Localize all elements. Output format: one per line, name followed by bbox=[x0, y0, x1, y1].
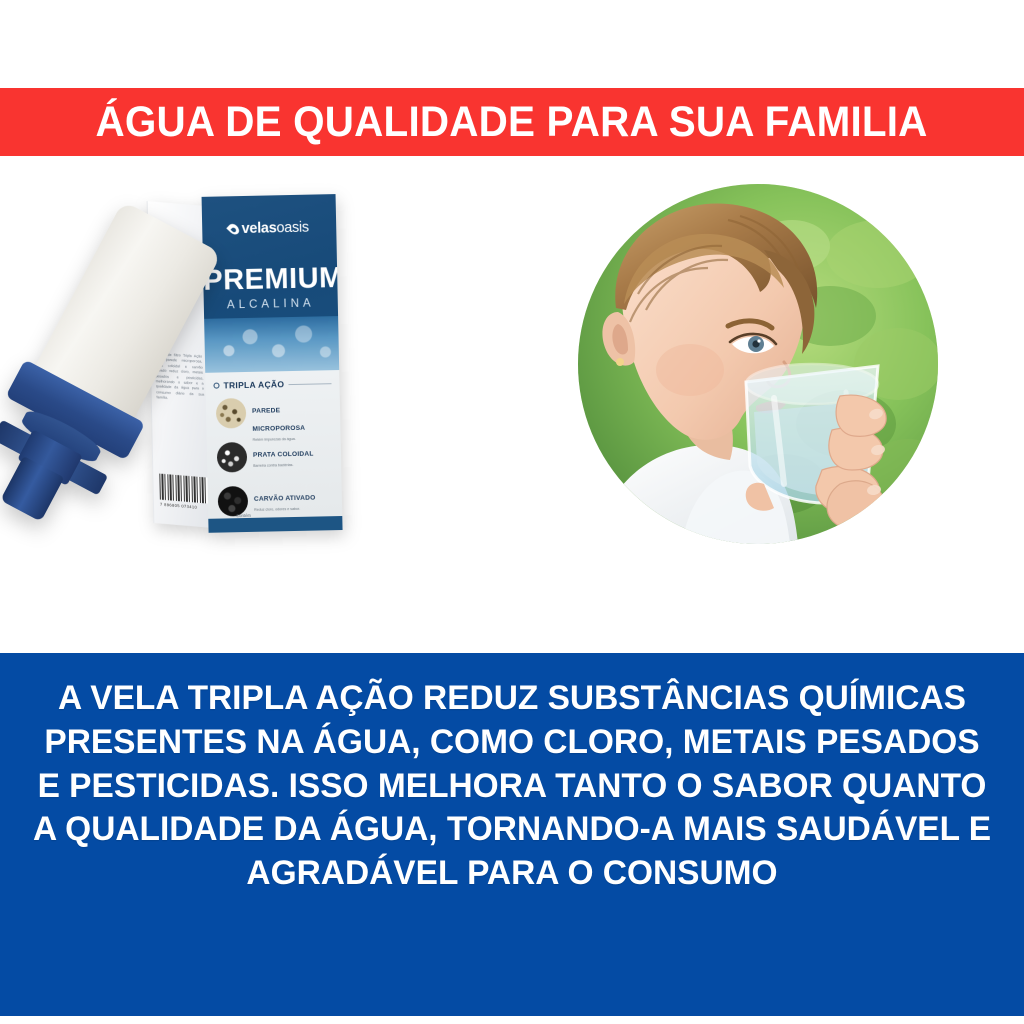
divider-rule bbox=[288, 383, 331, 385]
colloidal-silver-icon bbox=[217, 442, 248, 473]
activated-carbon-icon bbox=[218, 486, 249, 517]
triple-action-label: TRIPLA AÇÃO bbox=[223, 379, 284, 390]
brand-name-oasis: oasis bbox=[276, 220, 309, 237]
description-text: A VELA TRIPLA AÇÃO REDUZ SUBSTÂNCIAS QUÍ… bbox=[32, 653, 992, 896]
photo-illustration bbox=[578, 184, 938, 544]
feature-description: Reduz cloro, odores e sabor. bbox=[254, 507, 316, 513]
water-drop-icon bbox=[227, 222, 242, 237]
product-image-group: Mais qualidade e saúde para sua família.… bbox=[10, 176, 410, 576]
feature-title: CARVÃO ATIVADO bbox=[254, 495, 316, 503]
brand-logo: velasoasis bbox=[202, 218, 336, 239]
porous-wall-icon bbox=[216, 398, 247, 429]
carton-front-panel: velasoasis PREMIUM ALCALINA TRIPLA AÇÃO … bbox=[202, 194, 343, 533]
headline-banner: ÁGUA DE QUALIDADE PARA SUA FAMILIA bbox=[0, 88, 1024, 156]
carton-lower-panel: TRIPLA AÇÃO PAREDE MICROPOROSA Retém imp… bbox=[205, 370, 342, 533]
hero-stage: Mais qualidade e saúde para sua família.… bbox=[0, 156, 1024, 653]
feature-title: PRATA COLOIDAL bbox=[253, 451, 314, 459]
feature-description: Barreira contra bactérias. bbox=[253, 463, 314, 469]
feature-item: PRATA COLOIDAL Barreira contra bactérias… bbox=[217, 440, 336, 472]
child-drinking-water-photo bbox=[578, 184, 938, 544]
bullet-dot-icon bbox=[213, 383, 219, 389]
feature-item: PAREDE MICROPOROSA Retém impurezas da ág… bbox=[216, 396, 335, 443]
feature-title: PAREDE MICROPOROSA bbox=[252, 407, 305, 433]
barcode-icon bbox=[159, 474, 208, 504]
description-block: A VELA TRIPLA AÇÃO REDUZ SUBSTÂNCIAS QUÍ… bbox=[0, 653, 1024, 1016]
feature-item: CARVÃO ATIVADO Reduz cloro, odores e sab… bbox=[218, 484, 337, 516]
headline-text: ÁGUA DE QUALIDADE PARA SUA FAMILIA bbox=[96, 101, 928, 144]
carton-footer-bar bbox=[208, 516, 342, 533]
triple-action-row: TRIPLA AÇÃO bbox=[213, 378, 331, 390]
brand-name-velas: velas bbox=[241, 220, 276, 237]
